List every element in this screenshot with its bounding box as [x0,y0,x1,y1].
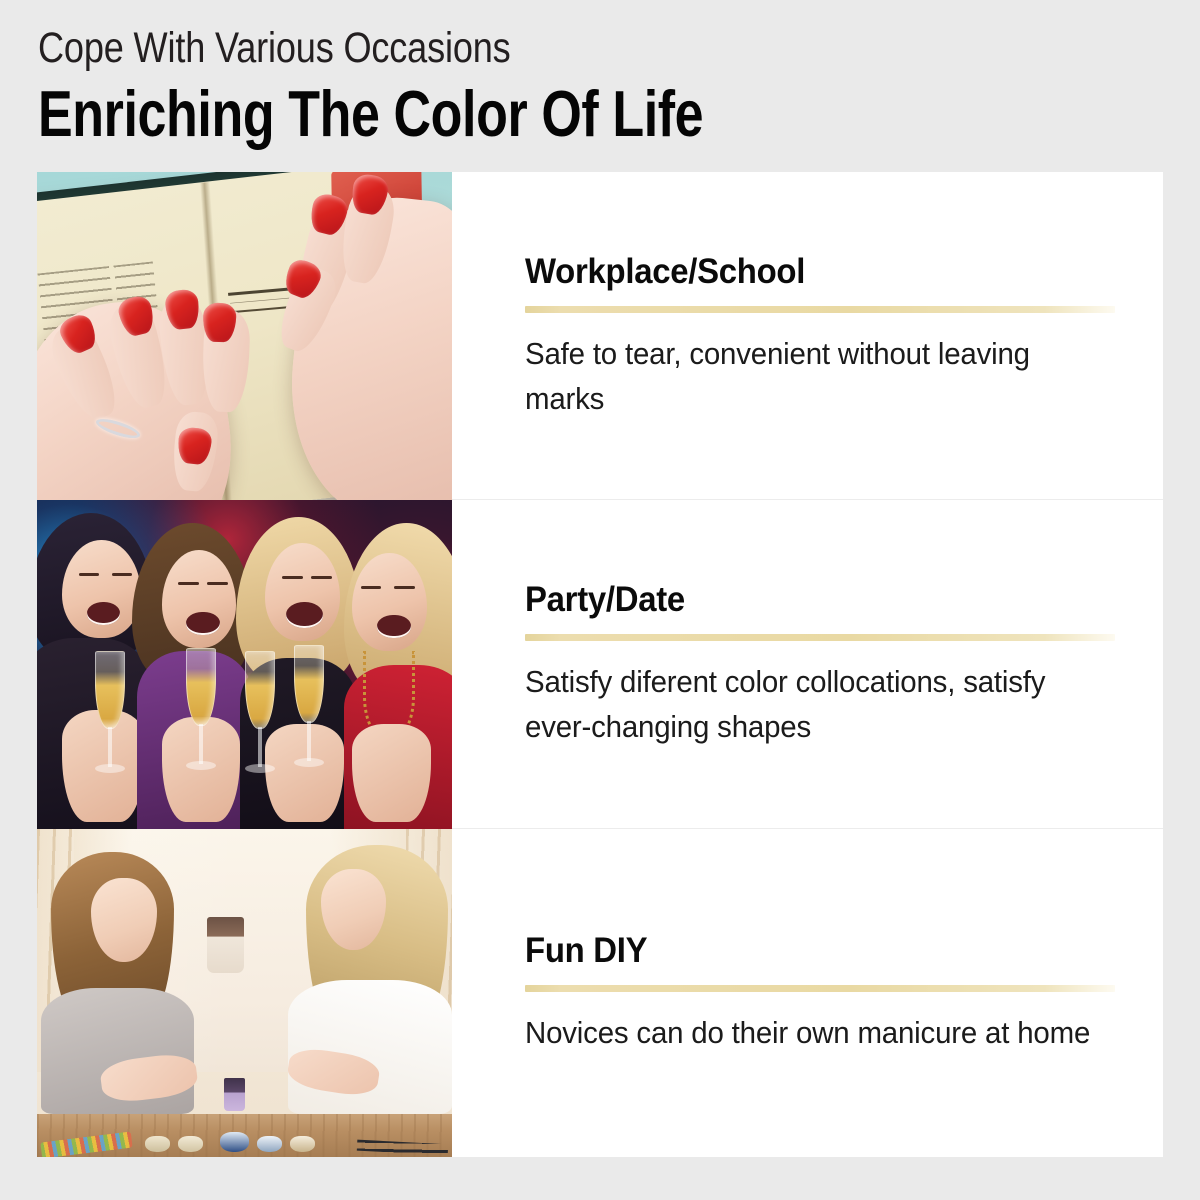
title-underline-rule [525,306,1115,313]
feature-description: Satisfy diferent color collocations, sat… [525,659,1095,749]
feature-row-party-date: Party/Date Satisfy diferent color colloc… [37,500,1163,828]
coffee-cup [207,917,244,973]
supply-pot [220,1132,249,1152]
person-right [269,845,452,1114]
mouth [186,612,219,635]
eye [282,576,303,579]
feature-row-fun-diy: Fun DIY Novices can do their own manicur… [37,829,1163,1157]
eye [394,586,415,589]
feature-row-workplace-school: Workplace/School Safe to tear, convenien… [37,172,1163,500]
nail-polish-bottle [224,1078,245,1111]
feature-title: Workplace/School [525,252,1125,292]
person-left [41,852,207,1115]
page-title: Enriching The Color Of Life [38,78,918,150]
arm [352,724,431,822]
supply-pot [178,1136,203,1152]
title-underline-rule [525,634,1115,641]
photo-diy-manicure [37,829,452,1157]
eye [112,573,133,576]
feature-text-workplace-school: Workplace/School Safe to tear, convenien… [452,172,1163,500]
arm [265,724,344,822]
supply-pot [290,1136,315,1152]
title-underline-rule [525,985,1115,992]
feature-title: Fun DIY [525,931,1125,971]
eye [361,586,382,589]
mouth [377,615,410,638]
mouth [87,602,120,625]
header-subtitle: Cope With Various Occasions [38,22,962,74]
feature-description: Safe to tear, convenient without leaving… [525,331,1095,421]
header-block: Cope With Various Occasions Enriching Th… [38,22,1138,150]
feature-description: Novices can do their own manicure at hom… [525,1010,1095,1055]
eye [207,582,228,585]
feature-card: Workplace/School Safe to tear, convenien… [37,172,1163,1157]
feature-title: Party/Date [525,580,1125,620]
photo-party-champagne [37,500,452,828]
eye [178,582,199,585]
eye [311,576,332,579]
product-feature-infographic: Cope With Various Occasions Enriching Th… [0,0,1200,1200]
photo-hands-on-book [37,172,452,500]
feature-text-fun-diy: Fun DIY Novices can do their own manicur… [452,829,1163,1157]
supply-pot [145,1136,170,1152]
white-tank-top [288,980,452,1115]
feature-text-party-date: Party/Date Satisfy diferent color colloc… [452,500,1163,828]
eye [79,573,100,576]
supply-pot [257,1136,282,1152]
